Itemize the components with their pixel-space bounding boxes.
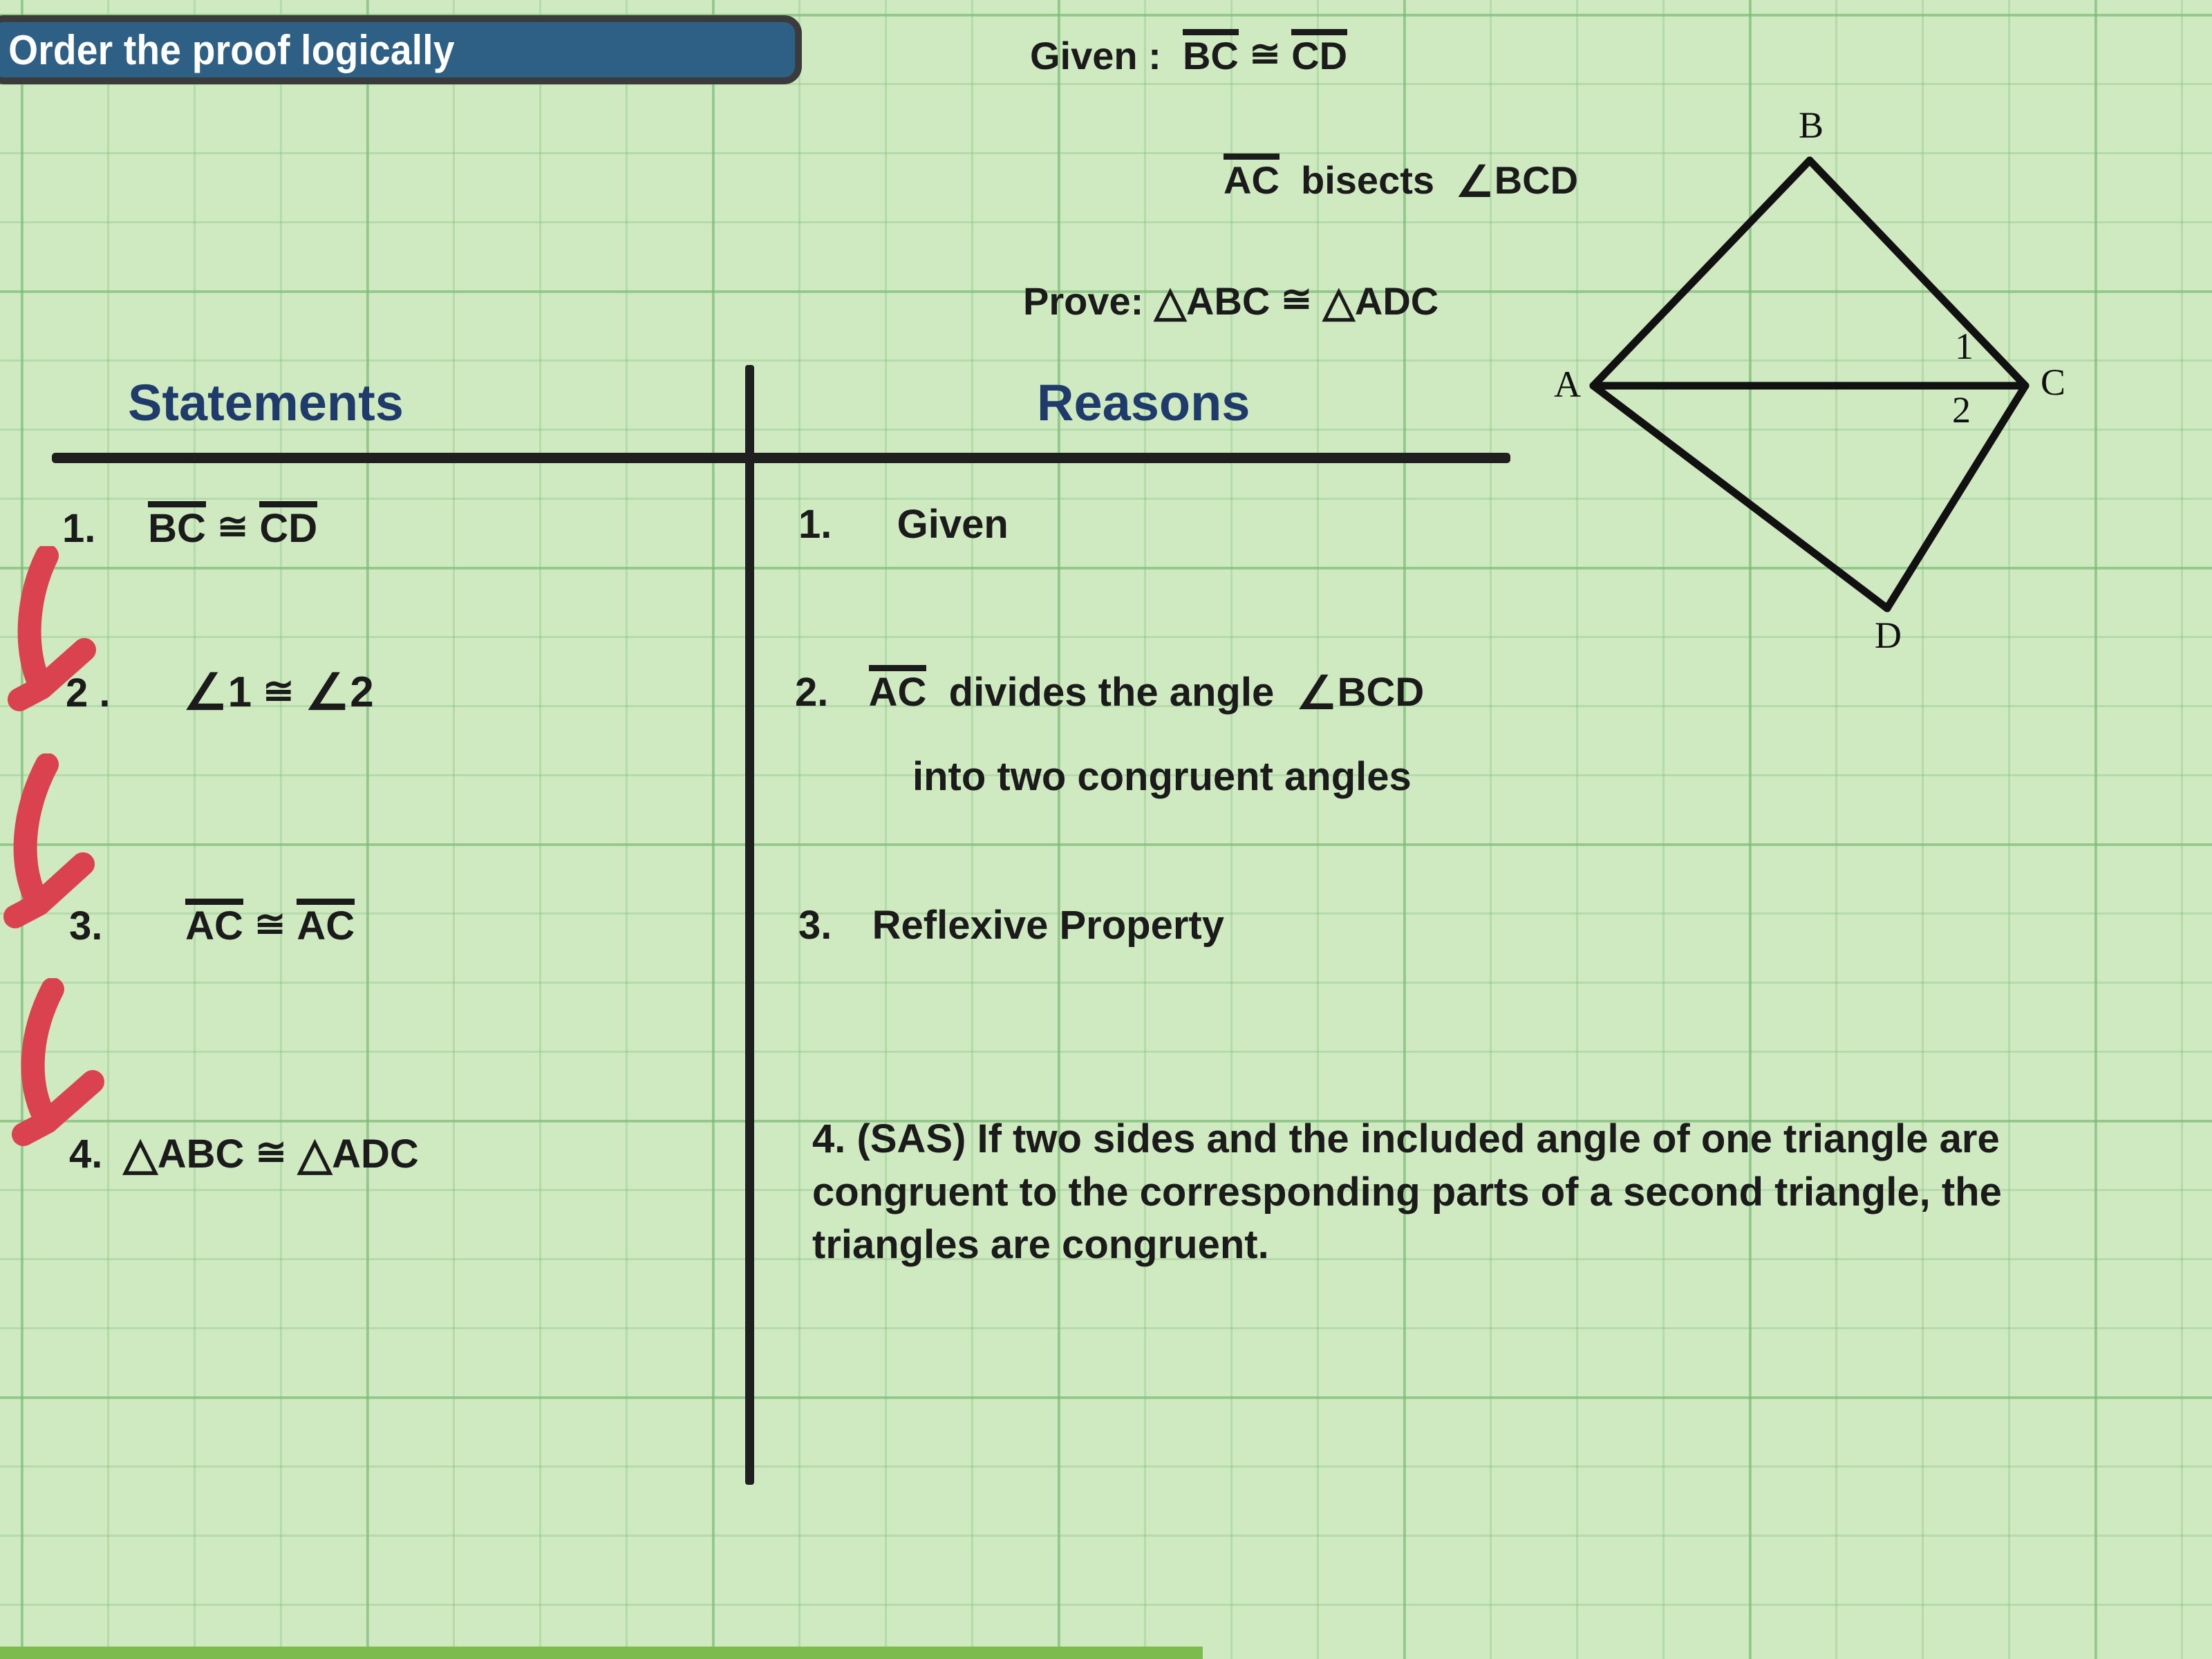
statement-segment-cd: CD — [259, 501, 317, 549]
reason-segment-ac: AC — [869, 665, 927, 713]
given-label: Given : — [1030, 34, 1161, 77]
reason-text: divides the angle — [949, 670, 1275, 715]
angle-label-1: 1 — [1955, 325, 1974, 368]
statement-segment-ac-right: AC — [297, 899, 355, 946]
statement-triangle-adc: ADC — [332, 1132, 419, 1177]
prove-triangle-abc: ABC — [1186, 279, 1270, 323]
given-segment-ac: AC — [1224, 153, 1280, 200]
vertex-label-c: C — [2041, 361, 2065, 404]
vertex-label-a: A — [1554, 363, 1581, 406]
bottom-accent-bar — [0, 1647, 1203, 1659]
angle-icon: ∠ — [1296, 666, 1337, 720]
prove-label: Prove: — [1023, 279, 1143, 323]
reason-angle-bcd: BCD — [1338, 670, 1425, 715]
prove-line: Prove: △ABC ≅ △ADC — [1023, 276, 1438, 325]
triangle-icon: △ — [298, 1128, 332, 1180]
statement-segment-bc: BC — [148, 501, 206, 549]
statement-segment-ac-left: AC — [185, 899, 243, 946]
statement-row: 1. BC ≅ CD — [62, 501, 317, 552]
prove-triangle-adc: ADC — [1355, 279, 1438, 323]
angle-label-2: 2 — [1952, 388, 1971, 431]
angle-icon: ∠ — [183, 663, 228, 721]
page-title: Order the proof logically — [0, 26, 455, 74]
statement-angle-1: 1 — [228, 668, 252, 716]
congruent-icon: ≅ — [256, 1130, 287, 1174]
reason-text: Given — [897, 502, 1009, 547]
congruent-icon: ≅ — [254, 902, 285, 946]
segment-ab — [1593, 160, 1810, 386]
flow-arrow-2-to-3 — [0, 753, 166, 933]
bisects-word: bisects — [1301, 158, 1434, 202]
triangle-icon: △ — [1323, 278, 1355, 326]
reason-row: 3. Reflexive Property — [798, 902, 1224, 948]
congruent-icon: ≅ — [1249, 32, 1280, 75]
statements-column-header: Statements — [128, 373, 404, 432]
given-line: Given : BC ≅ CD — [1030, 29, 1347, 78]
table-column-divider — [745, 365, 754, 1485]
congruent-icon: ≅ — [217, 505, 248, 548]
table-header-rule — [52, 453, 1510, 463]
triangle-icon: △ — [1154, 278, 1186, 326]
given-segment-cd: CD — [1291, 29, 1347, 75]
reason-row: 2. AC divides the angle ∠BCD — [795, 664, 1424, 717]
segment-ad — [1593, 386, 1887, 608]
congruent-icon: ≅ — [1281, 277, 1312, 321]
angle-icon: ∠ — [1456, 156, 1494, 207]
kite-diagram-svg — [1541, 48, 2191, 691]
title-banner: Order the proof logically — [0, 15, 802, 84]
statement-number: 1. — [62, 505, 137, 552]
angle-icon: ∠ — [306, 663, 350, 721]
congruent-icon: ≅ — [263, 669, 294, 713]
reason-number: 1. — [798, 502, 832, 547]
segment-bc — [1810, 160, 2025, 386]
reason-number: 3. — [798, 903, 832, 948]
reason-row: 4. (SAS) If two sides and the included a… — [812, 1113, 2126, 1272]
reason-row: 1. Given — [798, 501, 1009, 547]
statement-angle-2: 2 — [350, 668, 373, 716]
flow-arrow-1-to-2 — [7, 546, 166, 719]
flow-arrow-3-to-4 — [7, 978, 180, 1151]
reason-number: 2. — [795, 670, 828, 715]
vertex-label-b: B — [1799, 104, 1824, 147]
reason-number: 4. — [812, 1116, 845, 1161]
reason-text: Reflexive Property — [872, 903, 1224, 948]
reasons-column-header: Reasons — [1037, 373, 1250, 432]
kite-diagram: A B C D 1 2 — [1541, 48, 2191, 691]
vertex-label-d: D — [1875, 614, 1902, 657]
reason-text: (SAS) If two sides and the included angl… — [812, 1116, 2002, 1267]
reason-row-continuation: into two congruent angles — [912, 753, 1412, 800]
given-bisects-line: AC bisects ∠BCD — [1224, 153, 1578, 204]
given-segment-bc: BC — [1183, 29, 1239, 75]
